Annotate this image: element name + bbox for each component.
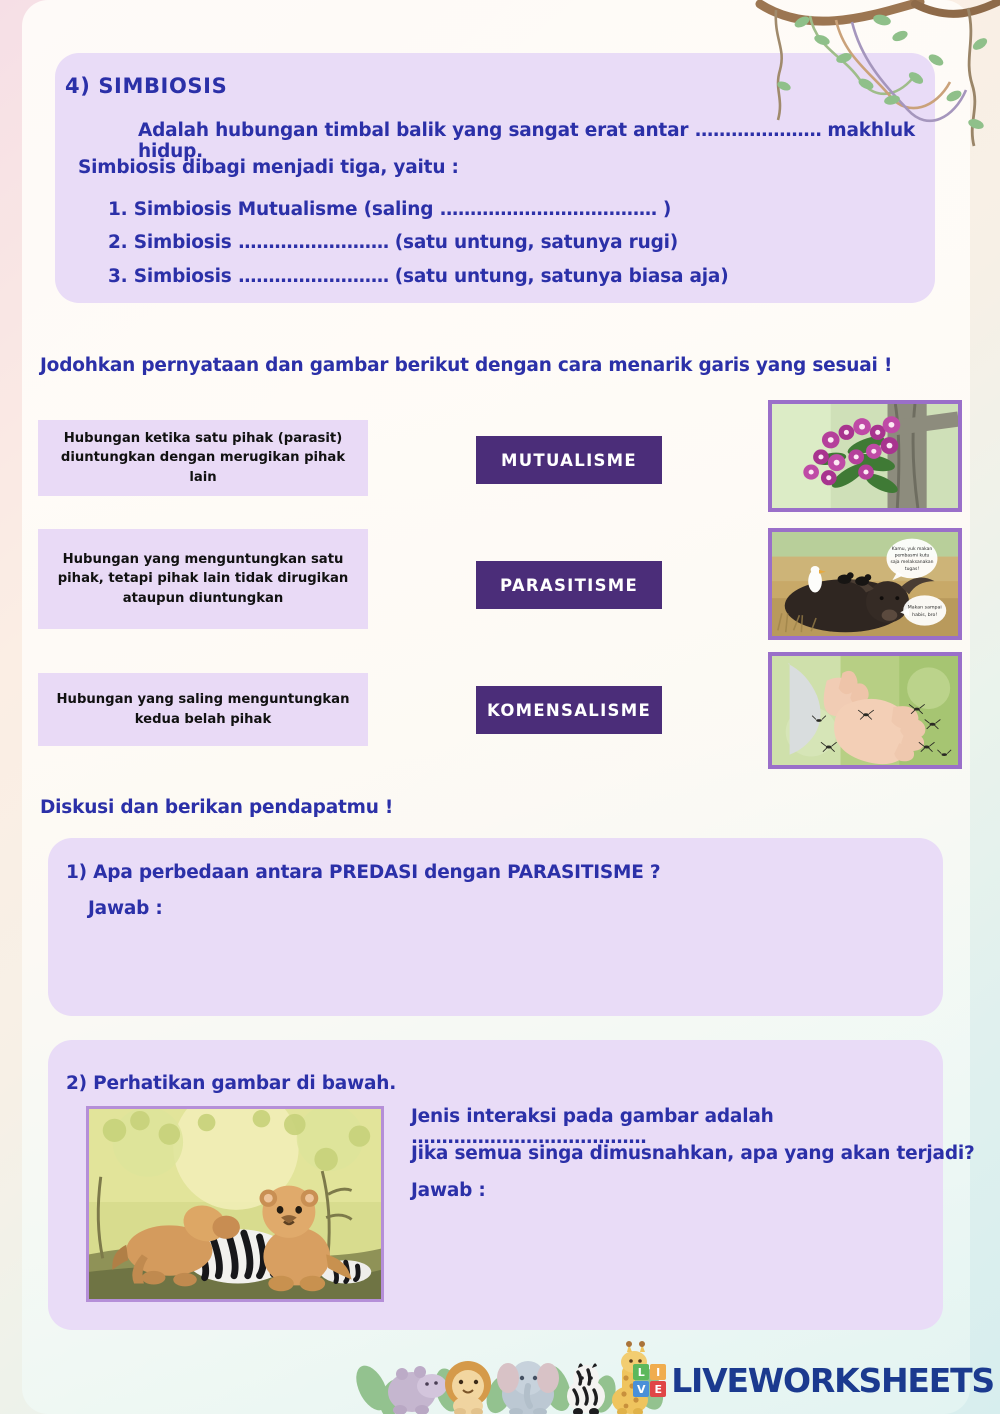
question-2-answer-label[interactable]: Jawab : [411,1180,486,1201]
item-blank[interactable]: .................................... [440,199,657,220]
logo-letter-v: V [633,1381,649,1397]
svg-text:Kamu, yuk makan: Kamu, yuk makan [892,546,933,552]
item-number: 2. [108,232,128,253]
item-blank[interactable]: ......................... [238,266,389,287]
question-1-answer-label[interactable]: Jawab : [88,898,163,919]
item-prefix: Simbiosis [134,232,232,253]
item-suffix: ) [663,199,671,220]
term-button-komensalisme[interactable]: KOMENSALISME [476,686,662,734]
item-prefix: Simbiosis [134,266,232,287]
statement-box[interactable]: Hubungan yang menguntungkan satu pihak, … [38,529,368,629]
mosquitoes-on-hand-photo[interactable] [768,652,962,769]
matching-instruction: Jodohkan pernyataan dan gambar berikut d… [40,355,892,376]
term-button-mutualisme[interactable]: MUTUALISME [476,436,662,484]
orchid-on-tree-photo[interactable] [768,400,962,512]
definition-list-item: 2. Simbiosis ......................... (… [108,232,678,253]
definition-lead: Adalah hubungan timbal balik yang sangat… [138,120,928,162]
liveworksheets-wordmark: LIVEWORKSHEETS [671,1361,994,1400]
svg-text:habis, bro!: habis, bro! [912,612,937,618]
item-number: 3. [108,266,128,287]
question-2-text: 2) Perhatikan gambar di bawah. [66,1073,396,1094]
liveworksheets-mark-icon: L I V E [633,1364,666,1397]
statement-box[interactable]: Hubungan ketika satu pihak (parasit) diu… [38,420,368,496]
question-2-line-2: Jika semua singa dimusnahkan, apa yang a… [411,1143,975,1164]
svg-text:saja melaksanakan: saja melaksanakan [890,559,933,565]
definition-list-item: 3. Simbiosis ......................... (… [108,266,728,287]
definition-subtitle: Simbiosis dibagi menjadi tiga, yaitu : [78,157,459,178]
svg-text:tugas!: tugas! [905,566,920,572]
question-1-text: 1) Apa perbedaan antara PREDASI dengan P… [66,862,660,883]
logo-letter-i: I [650,1364,666,1380]
term-button-parasitisme[interactable]: PARASITISME [476,561,662,609]
item-blank[interactable]: ......................... [238,232,389,253]
discussion-instruction: Diskusi dan berikan pendapatmu ! [40,797,393,818]
svg-text:Makan sampai: Makan sampai [908,605,942,611]
matching-area: Hubungan ketika satu pihak (parasit) diu… [0,398,1000,773]
logo-letter-e: E [650,1381,666,1397]
page-title: 4) SIMBIOSIS [65,74,227,98]
q2-line1-prefix: Jenis interaksi pada gambar adalah [411,1106,774,1127]
item-number: 1. [108,199,128,220]
item-suffix: (satu untung, satunya biasa aja) [395,266,729,287]
item-suffix: (satu untung, satunya rugi) [395,232,678,253]
liveworksheets-logo[interactable]: L I V E LIVEWORKSHEETS [633,1361,994,1400]
item-prefix: Simbiosis Mutualisme (saling [134,199,434,220]
statement-box[interactable]: Hubungan yang saling menguntungkan kedua… [38,673,368,746]
definition-list-item: 1. Simbiosis Mutualisme (saling ........… [108,199,671,220]
question-2-line-1: Jenis interaksi pada gambar adalah .....… [411,1106,1000,1148]
buffalo-with-birds-photo[interactable]: Kamu, yuk makan pembasmi kutu saja melak… [768,528,962,640]
svg-text:pembasmi kutu: pembasmi kutu [895,553,930,559]
definition-lead-prefix: Adalah hubungan timbal balik yang sangat… [138,120,688,141]
logo-letter-l: L [633,1364,649,1380]
definition-lead-blank[interactable]: ..................... [695,120,822,141]
lions-eating-zebra-photo[interactable] [86,1106,384,1302]
